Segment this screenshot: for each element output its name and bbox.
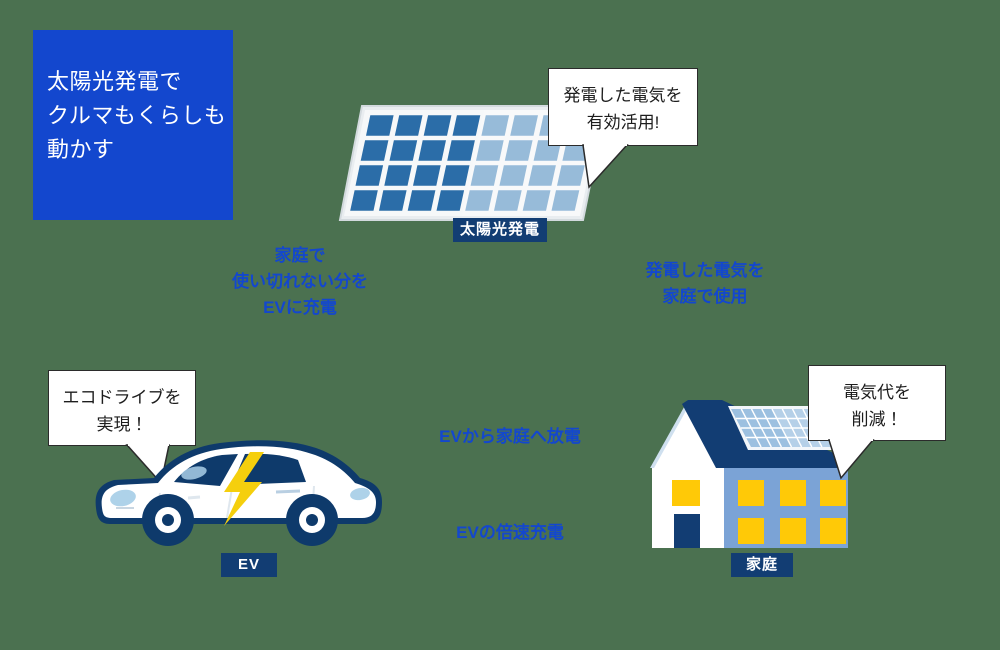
bubble-house-line-2: 削減！	[809, 406, 945, 433]
ev-car-svg	[88, 430, 388, 550]
bubble-house-tail	[829, 440, 889, 480]
title-line-2: クルマもくらしも	[47, 99, 233, 133]
bubble-solar-line-1: 発電した電気を	[549, 82, 697, 109]
house-window-r2c3	[820, 518, 846, 544]
car-wheel-front-hub	[162, 514, 174, 526]
solar-cell	[395, 115, 423, 136]
badge-ev: EV	[221, 553, 277, 577]
caption-home-to-ev: 家庭で 使い切れない分を EVに充電	[200, 243, 400, 321]
solar-cell	[350, 190, 378, 211]
title-line-1: 太陽光発電で	[47, 65, 233, 99]
solar-cell	[413, 165, 441, 186]
house-window-r2c2	[780, 518, 806, 544]
house-window-r1c2	[780, 480, 806, 506]
solar-cell	[453, 115, 481, 136]
caption-ev-fast-charge: EVの倍速充電	[430, 520, 590, 546]
solar-cell	[447, 140, 475, 161]
ev-car-illustration	[88, 430, 388, 550]
car-door-handle-rear	[276, 491, 300, 492]
solar-cell	[418, 140, 446, 161]
caption-solar-to-home-line-2: 家庭で使用	[620, 284, 790, 310]
house-door	[674, 514, 700, 548]
solar-cell	[437, 190, 465, 211]
caption-home-to-ev-line-1: 家庭で	[200, 243, 400, 269]
solar-cell	[424, 115, 452, 136]
house-window-left	[672, 480, 700, 506]
bubble-house: 電気代を 削減！	[808, 365, 946, 441]
caption-ev-to-home: EVから家庭へ放電	[420, 424, 600, 450]
solar-cell	[408, 190, 436, 211]
solar-cell	[356, 165, 384, 186]
caption-home-to-ev-line-2: 使い切れない分を	[200, 269, 400, 295]
solar-cell	[379, 190, 407, 211]
bubble-solar-tail	[583, 145, 643, 189]
solar-cell	[384, 165, 412, 186]
infographic-canvas: 太陽光発電で クルマもくらしも 動かす 太陽光発電 発電した電気を 有効活用! …	[0, 0, 1000, 650]
car-door-handle-front	[188, 497, 200, 498]
title-line-3: 動かす	[47, 133, 233, 167]
bubble-house-line-1: 電気代を	[809, 379, 945, 406]
caption-home-to-ev-line-3: EVに充電	[200, 295, 400, 321]
house-window-r1c3	[820, 480, 846, 506]
bubble-solar-line-2: 有効活用!	[549, 109, 697, 136]
house-window-r1c1	[738, 480, 764, 506]
solar-cell	[361, 140, 389, 161]
caption-solar-to-home-line-1: 発電した電気を	[620, 258, 790, 284]
car-wheel-rear-hub	[306, 514, 318, 526]
solar-cell	[366, 115, 394, 136]
caption-solar-to-home: 発電した電気を 家庭で使用	[620, 258, 790, 310]
bubble-ev-line-1: エコドライブを	[49, 384, 195, 411]
title-panel: 太陽光発電で クルマもくらしも 動かす	[33, 30, 233, 220]
solar-cell	[442, 165, 470, 186]
bubble-solar: 発電した電気を 有効活用!	[548, 68, 698, 146]
badge-house: 家庭	[731, 553, 793, 577]
solar-cell	[390, 140, 418, 161]
badge-solar: 太陽光発電	[453, 218, 547, 242]
house-window-r2c1	[738, 518, 764, 544]
